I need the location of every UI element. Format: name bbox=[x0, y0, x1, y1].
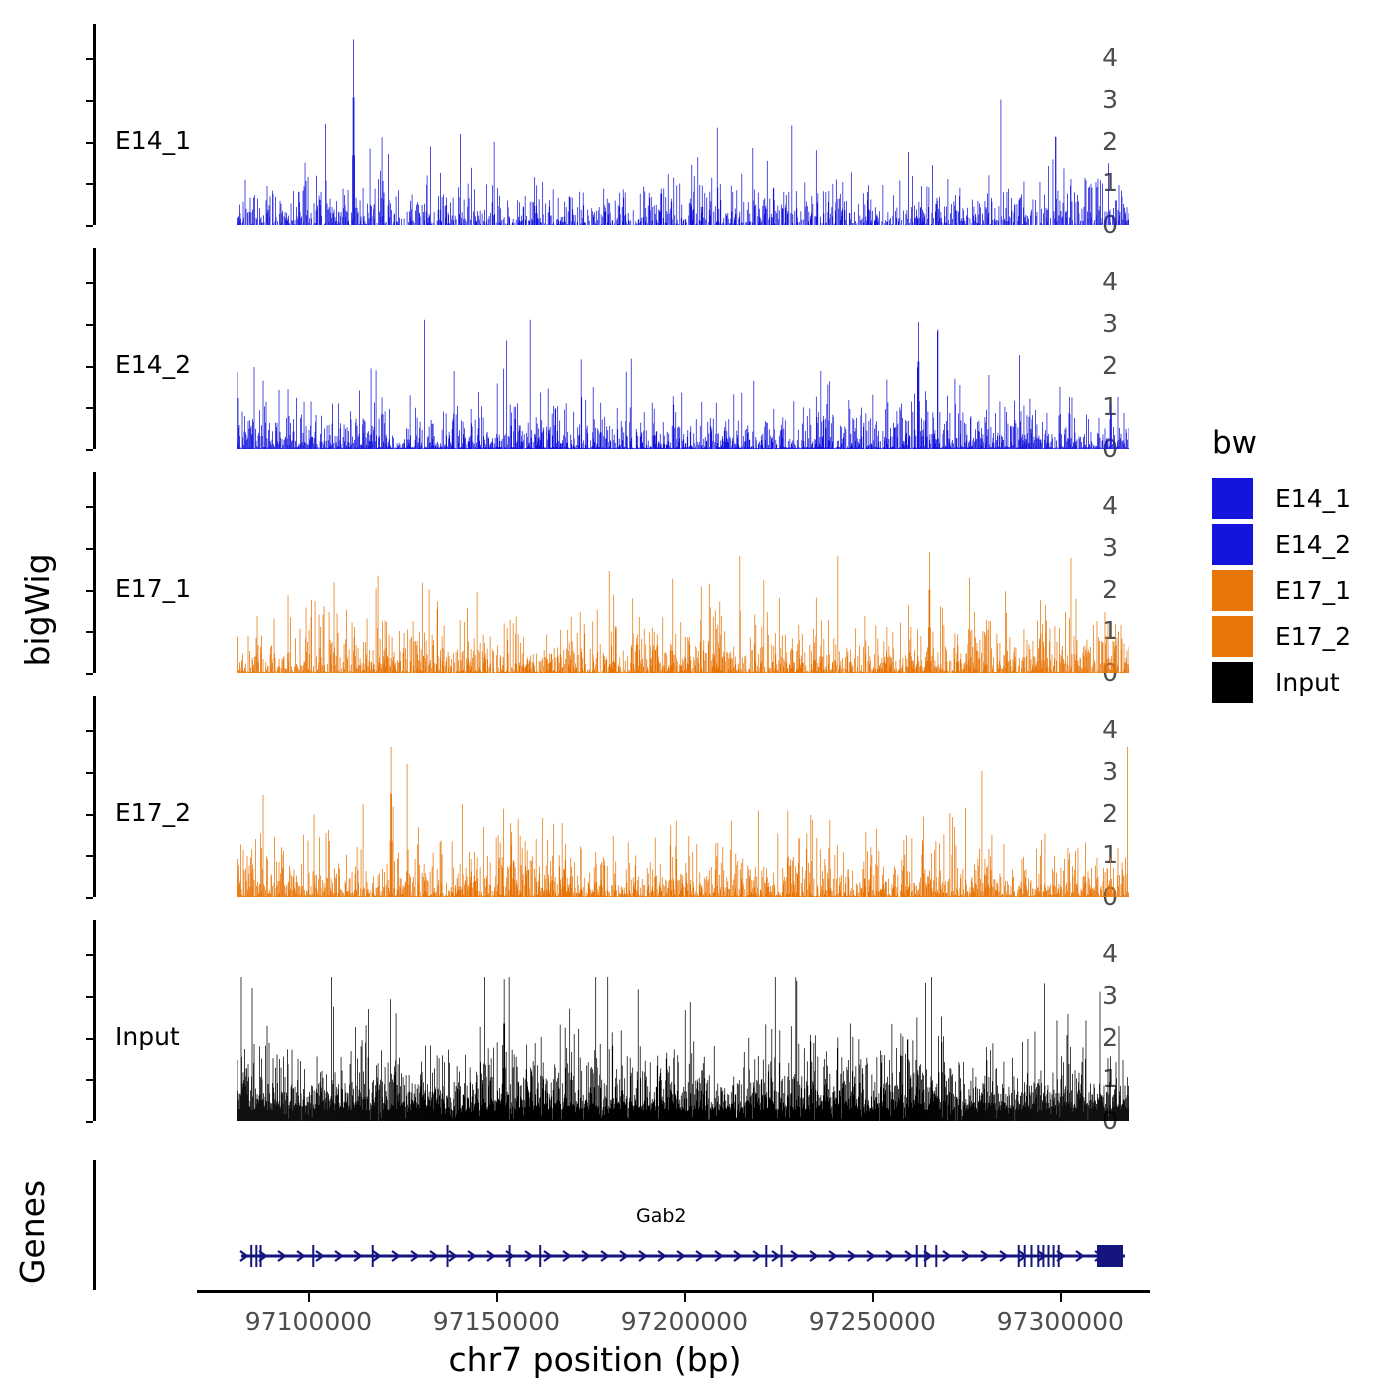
y-axis-tick bbox=[86, 631, 93, 633]
legend-item-e14_1[interactable]: E14_1 bbox=[1212, 475, 1392, 521]
legend-swatch-input bbox=[1212, 662, 1253, 703]
y-axis-tick bbox=[86, 1038, 93, 1040]
panel-axis-line bbox=[93, 472, 96, 673]
legend-label: E17_1 bbox=[1275, 576, 1351, 605]
legend-swatch-e14_2 bbox=[1212, 524, 1253, 565]
y-axis-tick bbox=[86, 449, 93, 451]
track-label-e14_1: E14_1 bbox=[115, 126, 191, 155]
y-axis-title-genes: Genes bbox=[13, 1152, 53, 1312]
legend-item-e17_2[interactable]: E17_2 bbox=[1212, 613, 1392, 659]
y-axis-tick bbox=[86, 590, 93, 592]
track-panel-e17_2: 01234E17_2 bbox=[93, 696, 1132, 897]
x-axis-tick bbox=[308, 1293, 310, 1302]
legend-label: E14_2 bbox=[1275, 530, 1351, 559]
y-axis-tick bbox=[86, 366, 93, 368]
gene-name-label: Gab2 bbox=[636, 1205, 687, 1227]
legend-label: E17_2 bbox=[1275, 622, 1351, 651]
track-panel-input: 01234Input bbox=[93, 920, 1132, 1121]
y-axis-tick bbox=[86, 407, 93, 409]
track-data-e14_1[interactable] bbox=[237, 24, 1129, 231]
x-axis-tick-label: 97200000 bbox=[584, 1307, 784, 1336]
y-axis-tick bbox=[86, 324, 93, 326]
x-axis-tick bbox=[496, 1293, 498, 1302]
x-axis-title: chr7 position (bp) bbox=[0, 1340, 1190, 1379]
x-axis-tick-label: 97150000 bbox=[396, 1307, 596, 1336]
y-axis-tick bbox=[86, 225, 93, 227]
track-data-e17_2[interactable] bbox=[237, 696, 1129, 903]
gene-model-graphic[interactable] bbox=[237, 1160, 1129, 1294]
y-axis-tick bbox=[86, 673, 93, 675]
y-axis-tick bbox=[86, 996, 93, 998]
x-axis-tick bbox=[1060, 1293, 1062, 1302]
track-panel-e14_2: 01234E14_2 bbox=[93, 248, 1132, 449]
y-axis-tick bbox=[86, 142, 93, 144]
gene-panel-axis-line bbox=[93, 1160, 96, 1290]
panel-axis-line bbox=[93, 920, 96, 1121]
x-axis-line bbox=[197, 1290, 1150, 1293]
x-axis-tick bbox=[684, 1293, 686, 1302]
plot-root: bigWig Genes 01234E14_101234E14_201234E1… bbox=[0, 0, 1400, 1400]
track-data-e14_2[interactable] bbox=[237, 248, 1129, 455]
legend: bw E14_1E14_2E17_1E17_2Input bbox=[1212, 428, 1392, 705]
track-panel-e17_1: 01234E17_1 bbox=[93, 472, 1132, 673]
legend-item-e14_2[interactable]: E14_2 bbox=[1212, 521, 1392, 567]
track-label-e17_1: E17_1 bbox=[115, 574, 191, 603]
legend-swatch-e14_1 bbox=[1212, 478, 1253, 519]
legend-label: E14_1 bbox=[1275, 484, 1351, 513]
legend-swatch-e17_2 bbox=[1212, 616, 1253, 657]
legend-label: Input bbox=[1275, 668, 1340, 697]
track-data-input[interactable] bbox=[237, 920, 1129, 1127]
y-axis-tick bbox=[86, 1079, 93, 1081]
x-axis-tick-label: 97300000 bbox=[960, 1307, 1160, 1336]
y-axis-tick bbox=[86, 100, 93, 102]
y-axis-tick bbox=[86, 1121, 93, 1123]
track-panel-e14_1: 01234E14_1 bbox=[93, 24, 1132, 225]
track-label-e17_2: E17_2 bbox=[115, 798, 191, 827]
y-axis-tick bbox=[86, 855, 93, 857]
legend-item-input[interactable]: Input bbox=[1212, 659, 1392, 705]
y-axis-tick bbox=[86, 183, 93, 185]
legend-title: bw bbox=[1212, 428, 1392, 459]
y-axis-tick bbox=[86, 506, 93, 508]
panel-axis-line bbox=[93, 696, 96, 897]
y-axis-tick bbox=[86, 772, 93, 774]
y-axis-tick bbox=[86, 954, 93, 956]
track-data-e17_1[interactable] bbox=[237, 472, 1129, 679]
y-axis-tick bbox=[86, 730, 93, 732]
x-axis-tick-label: 97250000 bbox=[772, 1307, 972, 1336]
y-axis-tick bbox=[86, 897, 93, 899]
panel-axis-line bbox=[93, 248, 96, 449]
legend-swatch-e17_1 bbox=[1212, 570, 1253, 611]
y-axis-title-bigwig: bigWig bbox=[18, 510, 58, 710]
legend-item-e17_1[interactable]: E17_1 bbox=[1212, 567, 1392, 613]
y-axis-tick bbox=[86, 814, 93, 816]
x-axis-tick bbox=[872, 1293, 874, 1302]
track-label-input: Input bbox=[115, 1022, 180, 1051]
track-label-e14_2: E14_2 bbox=[115, 350, 191, 379]
panel-axis-line bbox=[93, 24, 96, 225]
legend-items: E14_1E14_2E17_1E17_2Input bbox=[1212, 475, 1392, 705]
y-axis-tick bbox=[86, 282, 93, 284]
y-axis-tick bbox=[86, 58, 93, 60]
y-axis-tick bbox=[86, 548, 93, 550]
x-axis-tick-label: 97100000 bbox=[208, 1307, 408, 1336]
